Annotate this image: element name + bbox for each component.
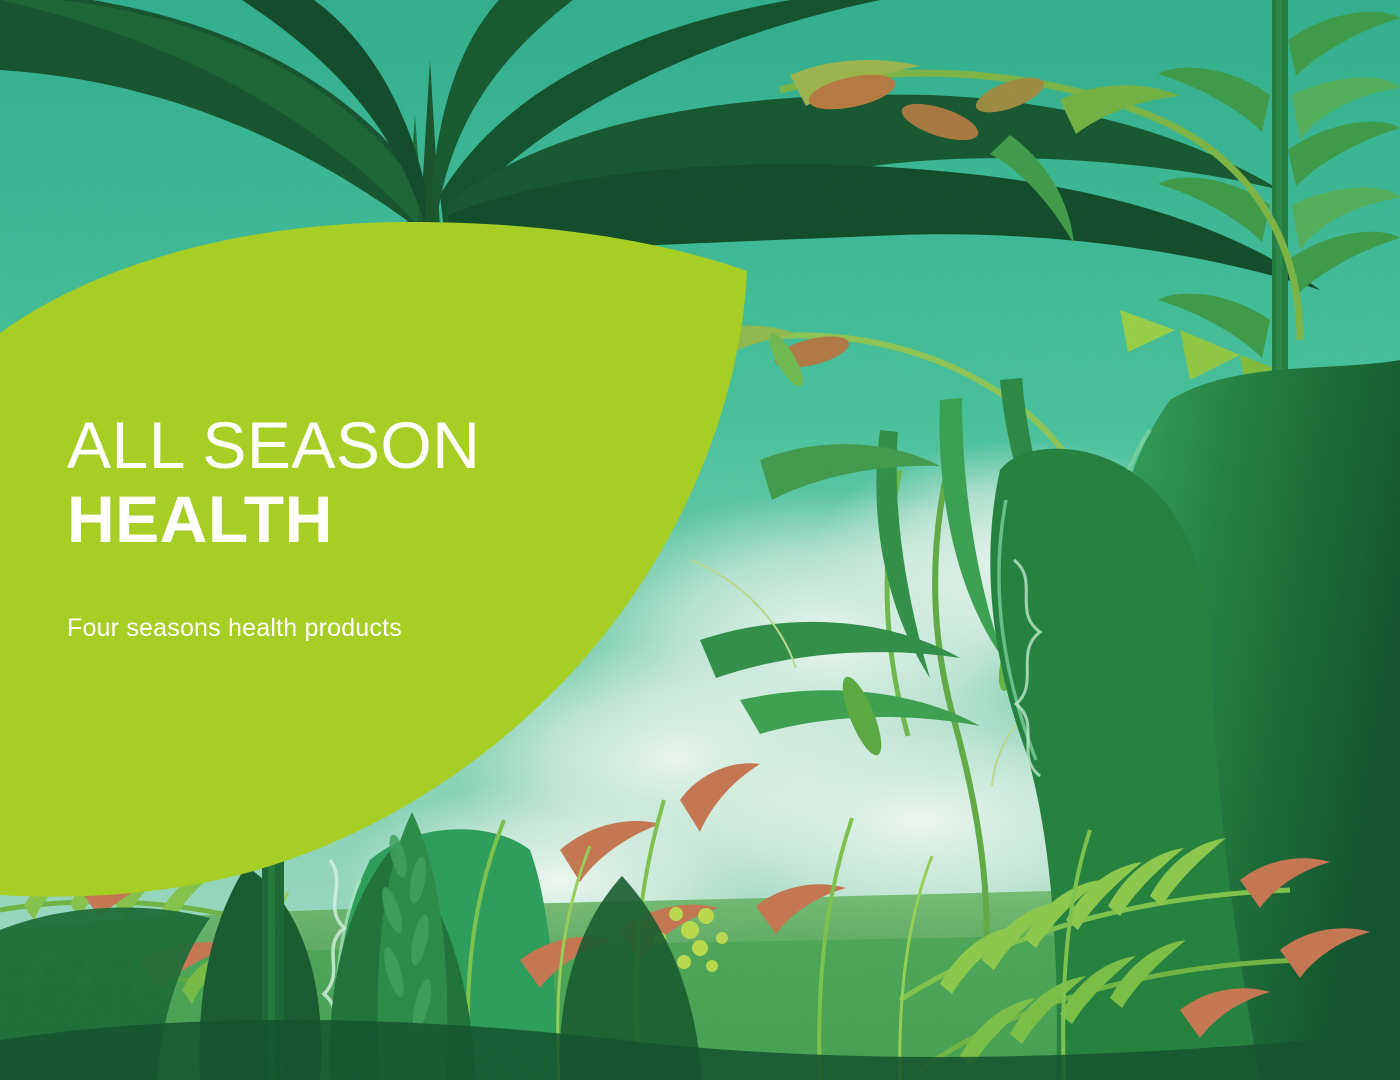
headline-line-1: ALL SEASON [67, 408, 627, 482]
headline-block: ALL SEASON HEALTH Four seasons health pr… [67, 408, 627, 643]
headline-line-2: HEALTH [67, 482, 627, 556]
poster-canvas: ALL SEASON HEALTH Four seasons health pr… [0, 0, 1400, 1080]
subheadline: Four seasons health products [67, 614, 627, 643]
